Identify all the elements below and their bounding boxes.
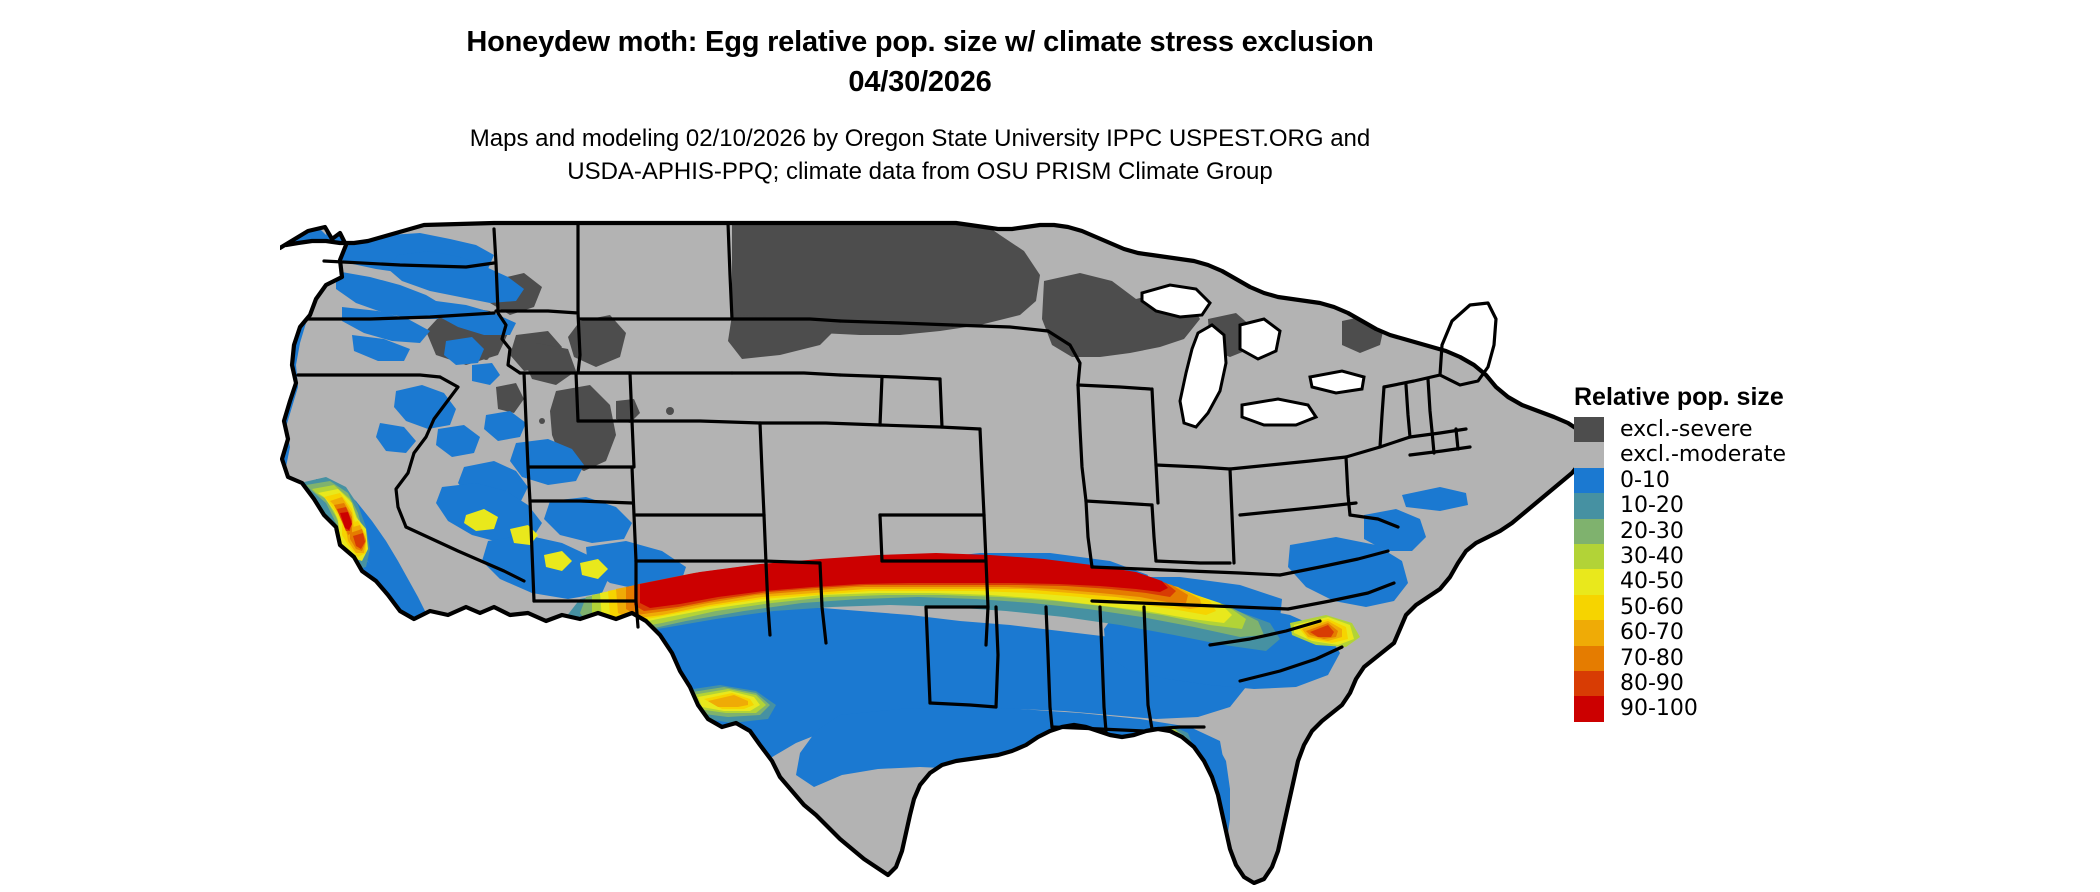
legend-color-swatch (1574, 696, 1604, 721)
legend-color-swatch (1574, 468, 1604, 493)
subtitle-line-1: Maps and modeling 02/10/2026 by Oregon S… (0, 122, 1840, 155)
legend-item-label: 60-70 (1620, 620, 1684, 645)
subtitle-line-2: USDA-APHIS-PPQ; climate data from OSU PR… (0, 155, 1840, 188)
legend-item: 30-40 (1574, 544, 1904, 569)
legend-item: 50-60 (1574, 595, 1904, 620)
legend-item: 0-10 (1574, 468, 1904, 493)
lake-erie (1242, 399, 1316, 425)
legend-color-swatch (1574, 493, 1604, 518)
legend-item: 70-80 (1574, 646, 1904, 671)
legend-item-label: 40-50 (1620, 569, 1684, 594)
legend-item: 20-30 (1574, 519, 1904, 544)
page-title-line-2: 04/30/2026 (0, 62, 1840, 102)
legend-color-swatch (1574, 569, 1604, 594)
legend-item-label: 20-30 (1620, 519, 1684, 544)
us-choropleth-map (280, 215, 1580, 885)
legend-color-swatch (1574, 442, 1604, 467)
lake-ontario (1310, 371, 1364, 393)
legend-item: excl.-moderate (1574, 442, 1904, 467)
legend-item-label: excl.-moderate (1620, 442, 1786, 467)
legend-item-label: 50-60 (1620, 595, 1684, 620)
legend-panel: Relative pop. size excl.-severeexcl.-mod… (1574, 383, 1904, 722)
legend-color-swatch (1574, 671, 1604, 696)
legend-color-swatch (1574, 595, 1604, 620)
legend-color-swatch (1574, 519, 1604, 544)
legend-item: 90-100 (1574, 696, 1904, 721)
legend-item: 10-20 (1574, 493, 1904, 518)
legend-item: 80-90 (1574, 671, 1904, 696)
legend-title: Relative pop. size (1574, 383, 1904, 411)
legend-items-list: excl.-severeexcl.-moderate0-1010-2020-30… (1574, 417, 1904, 722)
legend-item: 40-50 (1574, 569, 1904, 594)
legend-item: excl.-severe (1574, 417, 1904, 442)
page-title-line-1: Honeydew moth: Egg relative pop. size w/… (0, 22, 1840, 62)
legend-item: 60-70 (1574, 620, 1904, 645)
legend-item-label: excl.-severe (1620, 417, 1753, 442)
legend-color-swatch (1574, 544, 1604, 569)
map-canvas (280, 215, 1580, 885)
map-title-block: Honeydew moth: Egg relative pop. size w/… (0, 22, 1840, 102)
legend-item-label: 80-90 (1620, 671, 1684, 696)
legend-item-label: 70-80 (1620, 646, 1684, 671)
map-subtitle-block: Maps and modeling 02/10/2026 by Oregon S… (0, 122, 1840, 188)
legend-item-label: 0-10 (1620, 468, 1670, 493)
legend-item-label: 10-20 (1620, 493, 1684, 518)
legend-color-swatch (1574, 646, 1604, 671)
lake-huron (1240, 319, 1280, 359)
legend-item-label: 90-100 (1620, 696, 1698, 721)
legend-item-label: 30-40 (1620, 544, 1684, 569)
legend-color-swatch (1574, 620, 1604, 645)
legend-color-swatch (1574, 417, 1604, 442)
